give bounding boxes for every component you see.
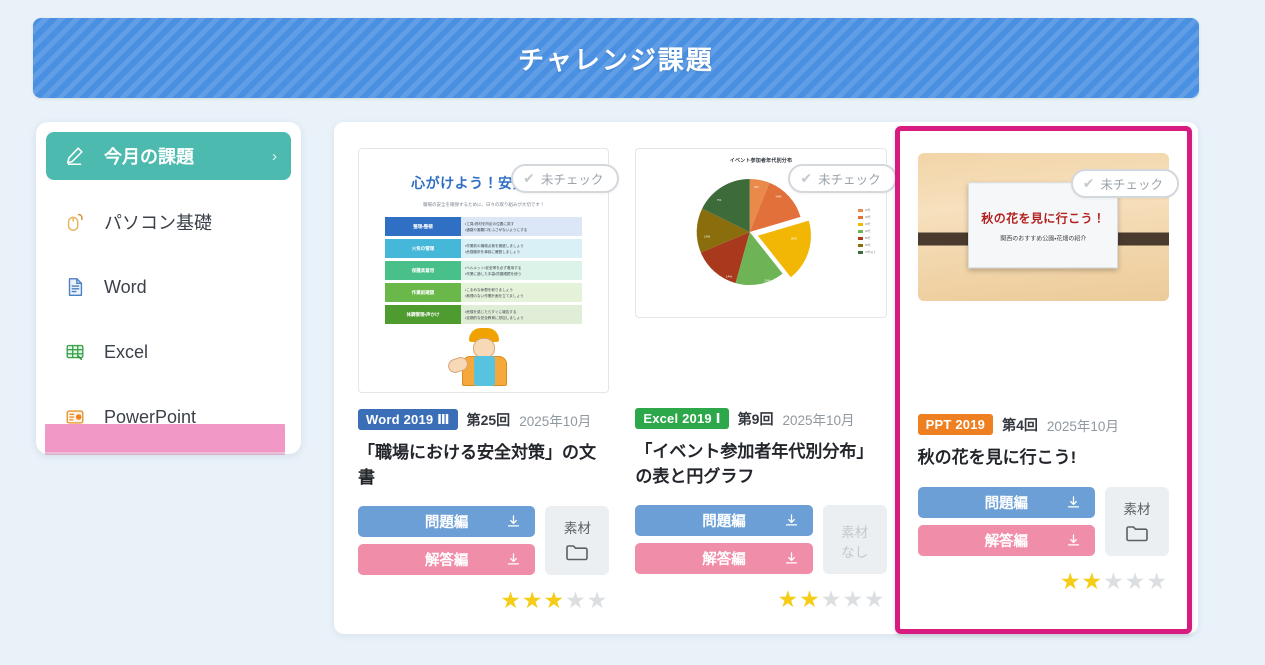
download-icon xyxy=(506,514,521,529)
app-root: チャレンジ課題 今月の課題 › パソコン基礎 xyxy=(0,0,1265,665)
legend-label: 40代 xyxy=(865,229,870,233)
download-icon xyxy=(1066,495,1081,510)
material-button-disabled: 素材 なし xyxy=(823,505,887,574)
download-icon xyxy=(784,513,799,528)
svg-text:7%: 7% xyxy=(717,198,722,202)
slide-title: 秋の花を見に行こう！ xyxy=(981,209,1105,226)
download-icon xyxy=(784,551,799,566)
status-badge[interactable]: ✔ 未チェック xyxy=(788,164,896,193)
download-icon xyxy=(506,552,521,567)
preview-doc-row: 整理・整頓 ・工具・資材を所定の位置に戻す ・通路や避難口をふさがないようにする xyxy=(385,217,582,236)
sidebar-item-label: Excel xyxy=(104,342,148,363)
spreadsheet-icon xyxy=(60,338,90,366)
svg-text:13%: 13% xyxy=(704,234,710,238)
legend-label: 60代 xyxy=(865,243,870,247)
star-icon: ★ xyxy=(799,588,820,611)
question-download-label: 問題編 xyxy=(702,510,746,531)
preview-doc-row: 火気の管理 ・作業前の機械点検を徹底しましょう ・危険箇所を事前に確認しましょう xyxy=(385,239,582,258)
preview-row-line: ・作業に適した手袋・防護眼鏡を使う xyxy=(465,271,582,277)
session-number: 第9回 xyxy=(738,409,774,429)
answer-download-button[interactable]: 解答編 xyxy=(635,543,812,574)
download-button-column: 問題編 解答編 xyxy=(918,487,1095,556)
sidebar-item-pc-basics[interactable]: パソコン基礎 xyxy=(46,198,291,246)
page-header-banner: チャレンジ課題 xyxy=(33,18,1199,98)
download-button-column: 問題編 解答編 xyxy=(358,506,535,575)
preview-row-line: ・無理のない作業計画を立てましょう xyxy=(465,293,582,299)
answer-download-label: 解答編 xyxy=(425,549,469,570)
preview-row-label: 体調管理・声かけ xyxy=(385,305,461,324)
worker-illustration-icon xyxy=(450,328,518,386)
preview-doc-row: 体調管理・声かけ ・危険を感じたらすぐに報告する ・定期的な安全教育に参加しまし… xyxy=(385,305,582,324)
legend-item: 50代 xyxy=(858,236,876,240)
material-button[interactable]: 素材 xyxy=(1105,487,1169,556)
assignment-title: 「職場における安全対策」の文書 xyxy=(358,441,609,490)
legend-item: 70代以上 xyxy=(858,250,876,254)
slide-subtitle: 関西のおすすめ公園・花畑の紹介 xyxy=(1000,233,1086,242)
assignment-card[interactable]: イベント参加者年代別分布 xyxy=(635,148,886,614)
course-badge: PPT 2019 xyxy=(918,414,993,435)
legend-label: 70代以上 xyxy=(865,250,876,254)
preview-row-line: ・危険箇所を事前に確認しましょう xyxy=(465,249,582,255)
star-icon: ★ xyxy=(565,589,586,612)
legend-item: 20代 xyxy=(858,215,876,219)
preview-row-text: ・工具・資材を所定の位置に戻す ・通路や避難口をふさがないようにする xyxy=(461,217,582,236)
star-icon: ★ xyxy=(864,588,885,611)
question-download-label: 問題編 xyxy=(985,492,1029,513)
preview-row-label: 整理・整頓 xyxy=(385,217,461,236)
legend-item: 10代 xyxy=(858,208,876,212)
card-meta-row: Excel 2019 Ⅰ 第9回 2025年10月 xyxy=(635,408,886,429)
preview-doc-row: 保護具着用 ・ヘルメット・安全帯を必ず着用する ・作業に適した手袋・防護眼鏡を使… xyxy=(385,261,582,280)
check-icon: ✔ xyxy=(1083,175,1095,192)
question-download-label: 問題編 xyxy=(425,511,469,532)
card-meta-row: Word 2019 Ⅲ 第25回 2025年10月 xyxy=(358,409,609,430)
preview-row-label: 保護具着用 xyxy=(385,261,461,280)
preview-doc-rows: 整理・整頓 ・工具・資材を所定の位置に戻す ・通路や避難口をふさがないようにする… xyxy=(385,217,582,324)
assignment-title: 秋の花を見に行こう! xyxy=(918,446,1169,471)
material-button-label: 素材 xyxy=(841,521,868,541)
legend-item: 30代 xyxy=(858,222,876,226)
chart-legend: 10代 20代 30代 40代 50代 60代 70代以上 xyxy=(858,208,876,254)
check-icon: ✔ xyxy=(800,170,812,187)
question-download-button[interactable]: 問題編 xyxy=(358,506,535,537)
star-icon: ★ xyxy=(522,589,543,612)
difficulty-rating: ★ ★ ★ ★ ★ xyxy=(918,570,1169,593)
legend-label: 10代 xyxy=(865,208,870,212)
thumbnail-wrapper: 心がけよう！安全対策 職場の安全を確保するために、日々の取り組みが大切です！ 整… xyxy=(358,148,609,393)
material-button-label: 素材 xyxy=(564,517,591,537)
card-actions: 問題編 解答編 xyxy=(358,506,609,575)
preview-row-text: ・危険を感じたらすぐに報告する ・定期的な安全教育に参加しましょう xyxy=(461,305,582,324)
status-badge-label: 未チェック xyxy=(818,169,881,188)
status-badge[interactable]: ✔ 未チェック xyxy=(511,164,619,193)
publish-date: 2025年10月 xyxy=(1047,415,1119,435)
svg-text:14%: 14% xyxy=(726,275,732,279)
svg-text:26%: 26% xyxy=(791,236,797,240)
preview-row-text: ・ヘルメット・安全帯を必ず着用する ・作業に適した手袋・防護眼鏡を使う xyxy=(461,261,582,280)
publish-date: 2025年10月 xyxy=(519,410,591,430)
star-icon: ★ xyxy=(1146,570,1167,593)
page-title: チャレンジ課題 xyxy=(518,40,714,77)
star-icon: ★ xyxy=(778,588,799,611)
preview-row-label: 作業前確認 xyxy=(385,283,461,302)
star-icon: ★ xyxy=(1060,570,1081,593)
answer-download-button[interactable]: 解答編 xyxy=(358,544,535,575)
sidebar-item-label: 今月の課題 xyxy=(104,143,194,169)
svg-text:6%: 6% xyxy=(755,185,760,189)
pencil-icon xyxy=(60,142,90,170)
material-button[interactable]: 素材 xyxy=(545,506,609,575)
star-icon: ★ xyxy=(500,589,521,612)
download-icon xyxy=(1066,533,1081,548)
preview-row-line: ・通路や避難口をふさがないようにする xyxy=(465,227,582,233)
difficulty-rating: ★ ★ ★ ★ ★ xyxy=(358,589,609,612)
preview-row-line: ・定期的な安全教育に参加しましょう xyxy=(465,315,582,321)
assignment-card[interactable]: 心がけよう！安全対策 職場の安全を確保するために、日々の取り組みが大切です！ 整… xyxy=(358,148,609,614)
sidebar-item-this-month[interactable]: 今月の課題 › xyxy=(46,132,291,180)
check-icon: ✔ xyxy=(523,170,535,187)
star-icon: ★ xyxy=(821,588,842,611)
status-badge-label: 未チェック xyxy=(1100,174,1163,193)
sidebar-item-label: Word xyxy=(104,277,147,298)
card-actions: 問題編 解答編 xyxy=(635,505,886,574)
legend-label: 20代 xyxy=(865,215,870,219)
session-number: 第4回 xyxy=(1002,415,1038,435)
chevron-right-icon: › xyxy=(272,148,277,165)
mouse-icon xyxy=(60,208,90,236)
course-badge: Excel 2019 Ⅰ xyxy=(635,408,728,429)
sidebar-item-label: パソコン基礎 xyxy=(104,209,212,235)
legend-label: 50代 xyxy=(865,236,870,240)
preview-doc-row: 作業前確認 ・こまめな休憩を取りましょう ・無理のない作業計画を立てましょう xyxy=(385,283,582,302)
chart-title: イベント参加者年代別分布 xyxy=(642,157,879,164)
sidebar-item-excel[interactable]: Excel xyxy=(46,328,291,376)
session-number: 第25回 xyxy=(467,410,511,430)
download-button-column: 問題編 解答編 xyxy=(635,505,812,574)
svg-text:14%: 14% xyxy=(776,194,782,198)
card-actions: 問題編 解答編 xyxy=(918,487,1169,556)
material-button-label: 素材 xyxy=(1123,498,1150,518)
preview-row-text: ・作業前の機械点検を徹底しましょう ・危険箇所を事前に確認しましょう xyxy=(461,239,582,258)
legend-item: 60代 xyxy=(858,243,876,247)
star-icon: ★ xyxy=(1103,570,1124,593)
question-download-button[interactable]: 問題編 xyxy=(918,487,1095,518)
difficulty-rating: ★ ★ ★ ★ ★ xyxy=(635,588,886,611)
legend-item: 40代 xyxy=(858,229,876,233)
publish-date: 2025年10月 xyxy=(782,409,854,429)
folder-icon xyxy=(565,542,589,564)
sidebar: 今月の課題 › パソコン基礎 Word xyxy=(36,122,301,454)
question-download-button[interactable]: 問題編 xyxy=(635,505,812,536)
star-icon: ★ xyxy=(1081,570,1102,593)
assignment-card-selected[interactable]: 秋の花を見に行こう！ 関西のおすすめ公園・花畑の紹介 ✔ 未チェック PPT 2… xyxy=(895,126,1192,634)
legend-label: 30代 xyxy=(865,222,870,226)
svg-text:20%: 20% xyxy=(765,278,771,282)
star-icon: ★ xyxy=(1125,570,1146,593)
star-icon: ★ xyxy=(842,588,863,611)
document-icon xyxy=(60,273,90,301)
preview-row-text: ・こまめな休憩を取りましょう ・無理のない作業計画を立てましょう xyxy=(461,283,582,302)
sidebar-item-word[interactable]: Word xyxy=(46,263,291,311)
assignment-card-list: 心がけよう！安全対策 職場の安全を確保するために、日々の取り組みが大切です！ 整… xyxy=(334,122,1198,634)
star-icon: ★ xyxy=(587,589,608,612)
answer-download-label: 解答編 xyxy=(702,548,746,569)
folder-icon xyxy=(1125,523,1149,545)
status-badge-label: 未チェック xyxy=(541,169,604,188)
status-badge[interactable]: ✔ 未チェック xyxy=(1071,169,1179,198)
star-icon: ★ xyxy=(543,589,564,612)
course-badge: Word 2019 Ⅲ xyxy=(358,409,458,430)
pink-highlight-marker xyxy=(45,424,285,452)
preview-row-label: 火気の管理 xyxy=(385,239,461,258)
material-button-sublabel: なし xyxy=(841,546,868,560)
answer-download-button[interactable]: 解答編 xyxy=(918,525,1095,556)
answer-download-label: 解答編 xyxy=(985,530,1029,551)
assignment-title: 「イベント参加者年代別分布」の表と円グラフ xyxy=(635,440,886,489)
thumbnail-wrapper: イベント参加者年代別分布 xyxy=(635,148,886,318)
preview-doc-subtitle: 職場の安全を確保するために、日々の取り組みが大切です！ xyxy=(385,201,582,208)
thumbnail-wrapper: 秋の花を見に行こう！ 関西のおすすめ公園・花畑の紹介 ✔ 未チェック xyxy=(918,153,1169,301)
card-meta-row: PPT 2019 第4回 2025年10月 xyxy=(918,414,1169,435)
